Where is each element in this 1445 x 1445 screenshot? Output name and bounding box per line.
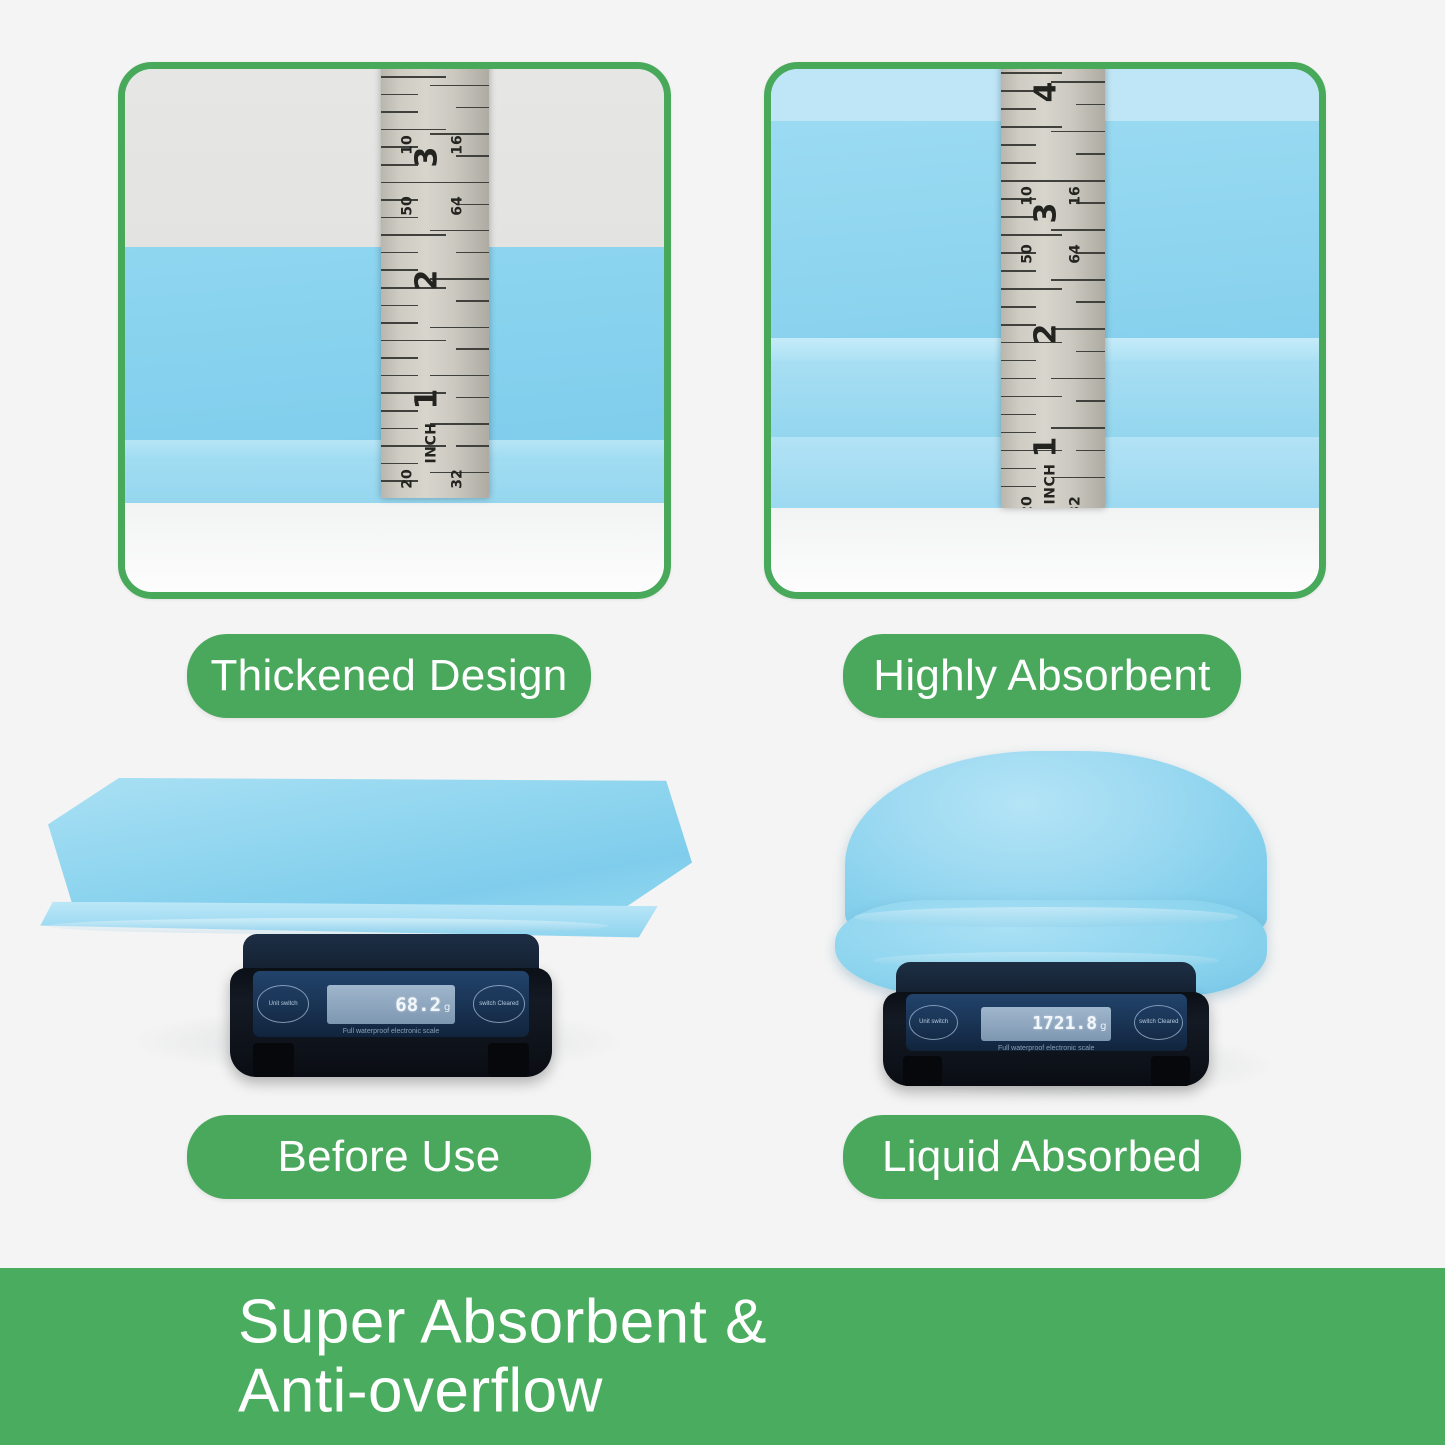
- caption-pill-before-use: Before Use: [187, 1115, 591, 1199]
- photo-before-use: 68.2 g Unit switch switch Cleared Full w…: [20, 765, 720, 1090]
- ruler-inch-2: 2: [412, 270, 442, 291]
- scale-foot-right: [488, 1043, 530, 1077]
- scale-subtitle: Full waterproof electronic scale: [883, 1045, 1209, 1052]
- ruler-inch-1: 1: [412, 388, 442, 409]
- scale-foot-right: [1151, 1056, 1190, 1086]
- scale-clear-button[interactable]: switch Cleared: [473, 985, 525, 1022]
- photo-liquid-absorbed: 1721.8 g Unit switch switch Cleared Full…: [835, 748, 1315, 1093]
- digital-scale-before: 68.2 g Unit switch switch Cleared Full w…: [230, 934, 552, 1077]
- photo-card-highly-absorbent: 4 3 2 1 INCH 10 50 20 16 64 32: [764, 62, 1326, 599]
- ruler-unit-label: INCH: [1044, 463, 1058, 504]
- digital-scale-liquid: 1721.8 g Unit switch switch Cleared Full…: [883, 962, 1209, 1086]
- scale-reading-value: 1721.8: [1032, 1013, 1097, 1034]
- bottom-banner: Super Absorbent & Anti-overflow: [0, 1268, 1445, 1445]
- ruler-frac-left-20: 20: [1021, 497, 1035, 509]
- table-surface: [125, 503, 664, 592]
- banner-headline: Super Absorbent & Anti-overflow: [238, 1287, 767, 1426]
- scale-unit-switch-button[interactable]: Unit switch: [909, 1005, 958, 1040]
- caption-pill-liquid-absorbed: Liquid Absorbed: [843, 1115, 1241, 1199]
- ruler-inch-4: 4: [1031, 81, 1061, 102]
- steel-ruler-thickness: 3 2 1 INCH 10 50 20 16 64 32: [381, 69, 489, 498]
- ruler-frac-right-32: 32: [451, 469, 465, 488]
- scale-reading-unit: g: [444, 1002, 450, 1013]
- ruler-frac-left-10: 10: [401, 135, 415, 154]
- banner-headline-line1: Super Absorbent &: [238, 1287, 767, 1356]
- ruler-frac-left-50: 50: [401, 196, 415, 215]
- underpad-flat: [48, 778, 692, 915]
- scale-reading-unit: g: [1100, 1021, 1106, 1032]
- infographic-page: 3 2 1 INCH 10 50 20 16 64 32: [0, 0, 1445, 1445]
- banner-headline-line2: Anti-overflow: [238, 1357, 767, 1426]
- photo-card-thickened-design: 3 2 1 INCH 10 50 20 16 64 32: [118, 62, 671, 599]
- ruler-inch-2: 2: [1031, 324, 1061, 345]
- scale-subtitle: Full waterproof electronic scale: [230, 1028, 552, 1035]
- ruler-inch-1: 1: [1031, 436, 1061, 457]
- scale-lcd-display: 1721.8 g: [981, 1007, 1112, 1042]
- ruler-unit-label: INCH: [425, 423, 439, 464]
- scale-reading-value: 68.2: [395, 994, 441, 1016]
- ruler-frac-left-20: 20: [401, 469, 415, 488]
- scale-lcd-display: 68.2 g: [327, 985, 456, 1024]
- ruler-inch-3: 3: [412, 147, 442, 168]
- scale-foot-left: [253, 1043, 295, 1077]
- ruler-frac-left-10: 10: [1021, 186, 1035, 205]
- steel-ruler-thickness: 4 3 2 1 INCH 10 50 20 16 64 32: [1001, 69, 1105, 508]
- scale-unit-switch-button[interactable]: Unit switch: [257, 985, 309, 1022]
- ruler-frac-right-16: 16: [1068, 186, 1082, 205]
- ruler-frac-right-16: 16: [451, 135, 465, 154]
- caption-pill-thickened-design: Thickened Design: [187, 634, 591, 718]
- table-surface: [771, 508, 1319, 592]
- ruler-frac-right-64: 64: [1068, 245, 1082, 264]
- photo-thickened-design: 3 2 1 INCH 10 50 20 16 64 32: [125, 69, 664, 592]
- photo-highly-absorbent: 4 3 2 1 INCH 10 50 20 16 64 32: [771, 69, 1319, 592]
- scale-foot-left: [903, 1056, 942, 1086]
- caption-pill-highly-absorbent: Highly Absorbent: [843, 634, 1241, 718]
- ruler-frac-right-64: 64: [451, 196, 465, 215]
- ruler-frac-left-50: 50: [1021, 245, 1035, 264]
- ruler-frac-right-32: 32: [1068, 497, 1082, 509]
- underpad-fold-highlight: [48, 918, 608, 934]
